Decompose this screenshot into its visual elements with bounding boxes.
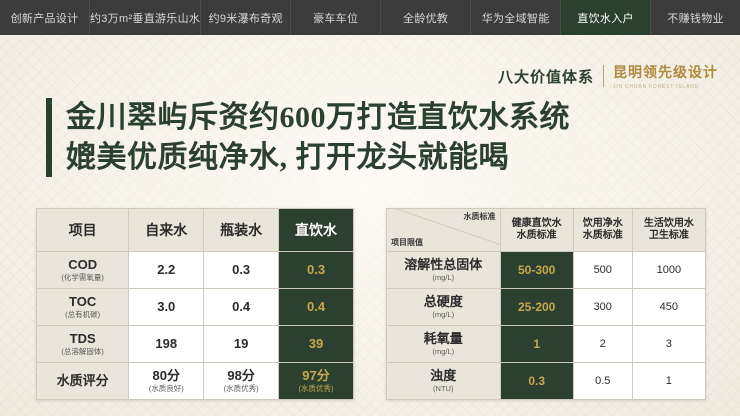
row-label-sub: (化学需氧量) bbox=[37, 273, 128, 282]
nav-item-5[interactable]: 华为全域智能 bbox=[471, 0, 561, 35]
nav-item-2[interactable]: 约9米瀑布奇观 bbox=[201, 0, 291, 35]
cell-hardness-healthy: 25-200 bbox=[500, 289, 573, 326]
headline: 金川翠屿斥资约600万打造直饮水系统 媲美优质纯净水, 打开龙头就能喝 bbox=[46, 98, 570, 177]
headline-line-2: 媲美优质纯净水, 打开龙头就能喝 bbox=[66, 138, 570, 178]
nav-item-0[interactable]: 创新产品设计 bbox=[0, 0, 90, 35]
brand-line: 八大价值体系 昆明领先级设计 JIN CHUAN FOREST ISLAND bbox=[498, 62, 718, 90]
cell-oxygen-domestic: 3 bbox=[632, 326, 705, 363]
cell-tds-healthy: 50-300 bbox=[500, 252, 573, 289]
row-label-sub: (总溶解固体) bbox=[37, 347, 128, 356]
row-label-unit: (NTU) bbox=[387, 384, 500, 393]
row-label-turbidity: 浊度 (NTU) bbox=[387, 363, 501, 400]
cell-cod-bottled: 0.3 bbox=[204, 252, 279, 289]
corner-label-limit: 项目限值 bbox=[391, 238, 423, 248]
brand-design-label: 昆明领先级设计 bbox=[613, 62, 718, 82]
brand-pinyin-label: JIN CHUAN FOREST ISLAND bbox=[613, 84, 699, 90]
cell-oxygen-healthy: 1 bbox=[500, 326, 573, 363]
cell-score-direct: 97分 (水质优秀) bbox=[279, 363, 354, 400]
table-header-row: 水质标准 项目限值 健康直饮水水质标准 饮用净水水质标准 生活饮用水卫生标准 bbox=[387, 209, 706, 252]
nav-item-7[interactable]: 不赚钱物业 bbox=[651, 0, 740, 35]
row-label-unit: (mg/L) bbox=[387, 273, 500, 282]
cell-value-sub: (水质良好) bbox=[129, 384, 203, 393]
cell-oxygen-purified: 2 bbox=[573, 326, 632, 363]
cell-score-tap: 80分 (水质良好) bbox=[129, 363, 204, 400]
nav-item-1[interactable]: 约3万m²垂直游乐山水 bbox=[90, 0, 201, 35]
cell-value: 0.3 bbox=[279, 263, 353, 278]
corner-header-cell: 水质标准 项目限值 bbox=[387, 209, 501, 252]
row-label-unit: (mg/L) bbox=[387, 347, 500, 356]
row-label-tds-total: 溶解性总固体 (mg/L) bbox=[387, 252, 501, 289]
cell-hardness-domestic: 450 bbox=[632, 289, 705, 326]
brand-value-system-label: 八大价值体系 bbox=[498, 66, 594, 87]
cell-value: 98分 bbox=[204, 369, 278, 384]
cell-value: 3.0 bbox=[129, 300, 203, 315]
row-label-main: TOC bbox=[37, 295, 128, 310]
cell-value-sub: (水质优秀) bbox=[279, 384, 353, 393]
table-row: 水质评分 80分 (水质良好) 98分 (水质优秀) 97分 (水质优秀) bbox=[37, 363, 354, 400]
row-label-main: 水质评分 bbox=[37, 374, 128, 389]
headline-text: 金川翠屿斥资约600万打造直饮水系统 媲美优质纯净水, 打开龙头就能喝 bbox=[66, 98, 570, 177]
cell-toc-bottled: 0.4 bbox=[204, 289, 279, 326]
headline-accent-bar bbox=[46, 98, 52, 177]
row-label-sub: (总有机碳) bbox=[37, 310, 128, 319]
cell-cod-direct: 0.3 bbox=[279, 252, 354, 289]
cell-tds-domestic: 1000 bbox=[632, 252, 705, 289]
col-header-tap-water: 自来水 bbox=[129, 209, 204, 252]
cell-value-sub: (水质优秀) bbox=[204, 384, 278, 393]
col-header-direct-drinking-water: 直饮水 bbox=[279, 209, 354, 252]
cell-value: 19 bbox=[204, 337, 278, 352]
water-standards-table: 水质标准 项目限值 健康直饮水水质标准 饮用净水水质标准 生活饮用水卫生标准 溶… bbox=[386, 208, 706, 400]
cell-value: 0.4 bbox=[204, 300, 278, 315]
row-label-tds: TDS (总溶解固体) bbox=[37, 326, 129, 363]
cell-value: 2.2 bbox=[129, 263, 203, 278]
row-label-toc: TOC (总有机碳) bbox=[37, 289, 129, 326]
nav-item-3[interactable]: 豪车车位 bbox=[291, 0, 381, 35]
cell-turbidity-domestic: 1 bbox=[632, 363, 705, 400]
table-row: 总硬度 (mg/L) 25-200 300 450 bbox=[387, 289, 706, 326]
row-label-main: 浊度 bbox=[387, 369, 500, 384]
row-label-main: TDS bbox=[37, 332, 128, 347]
cell-value: 0.3 bbox=[204, 263, 278, 278]
cell-tds-purified: 500 bbox=[573, 252, 632, 289]
brand-divider bbox=[603, 65, 604, 87]
table-row: COD (化学需氧量) 2.2 0.3 0.3 bbox=[37, 252, 354, 289]
table-header-row: 项目 自来水 瓶装水 直饮水 bbox=[37, 209, 354, 252]
cell-tds-bottled: 19 bbox=[204, 326, 279, 363]
water-comparison-table: 项目 自来水 瓶装水 直饮水 COD (化学需氧量) 2.2 0.3 0.3 T… bbox=[36, 208, 354, 400]
tables-container: 项目 自来水 瓶装水 直饮水 COD (化学需氧量) 2.2 0.3 0.3 T… bbox=[36, 208, 706, 400]
row-label-oxygen-consumption: 耗氧量 (mg/L) bbox=[387, 326, 501, 363]
nav-item-label: 约9米瀑布奇观 bbox=[209, 10, 283, 26]
cell-value: 198 bbox=[129, 337, 203, 352]
cell-value: 97分 bbox=[279, 369, 353, 384]
row-label-main: 溶解性总固体 bbox=[387, 258, 500, 273]
nav-item-label: 不赚钱物业 bbox=[667, 10, 724, 26]
nav-item-label: 直饮水入户 bbox=[577, 10, 634, 26]
cell-value: 80分 bbox=[129, 369, 203, 384]
nav-item-4[interactable]: 全龄优教 bbox=[381, 0, 471, 35]
table-row: 浊度 (NTU) 0.3 0.5 1 bbox=[387, 363, 706, 400]
cell-turbidity-healthy: 0.3 bbox=[500, 363, 573, 400]
nav-item-label: 创新产品设计 bbox=[11, 10, 79, 26]
row-label-hardness: 总硬度 (mg/L) bbox=[387, 289, 501, 326]
cell-toc-tap: 3.0 bbox=[129, 289, 204, 326]
row-label-main: 总硬度 bbox=[387, 295, 500, 310]
nav-item-label: 全龄优教 bbox=[403, 10, 448, 26]
brand-right-wrap: 昆明领先级设计 JIN CHUAN FOREST ISLAND bbox=[613, 62, 718, 90]
cell-value: 39 bbox=[279, 337, 353, 352]
cell-tds-tap: 198 bbox=[129, 326, 204, 363]
row-label-cod: COD (化学需氧量) bbox=[37, 252, 129, 289]
row-label-unit: (mg/L) bbox=[387, 310, 500, 319]
cell-turbidity-purified: 0.5 bbox=[573, 363, 632, 400]
nav-item-label: 豪车车位 bbox=[313, 10, 358, 26]
nav-item-6-active[interactable]: 直饮水入户 bbox=[561, 0, 651, 35]
col-header-item: 项目 bbox=[37, 209, 129, 252]
top-navigation: 创新产品设计 约3万m²垂直游乐山水 约9米瀑布奇观 豪车车位 全龄优教 华为全… bbox=[0, 0, 740, 35]
cell-hardness-purified: 300 bbox=[573, 289, 632, 326]
col-header-purified-standard: 饮用净水水质标准 bbox=[573, 209, 632, 252]
col-header-bottled-water: 瓶装水 bbox=[204, 209, 279, 252]
table-row: TDS (总溶解固体) 198 19 39 bbox=[37, 326, 354, 363]
col-header-healthy-direct-standard: 健康直饮水水质标准 bbox=[500, 209, 573, 252]
table-row: 耗氧量 (mg/L) 1 2 3 bbox=[387, 326, 706, 363]
nav-item-label: 约3万m²垂直游乐山水 bbox=[90, 10, 200, 26]
cell-value: 0.4 bbox=[279, 300, 353, 315]
table-row: TOC (总有机碳) 3.0 0.4 0.4 bbox=[37, 289, 354, 326]
cell-tds-direct: 39 bbox=[279, 326, 354, 363]
nav-item-label: 华为全域智能 bbox=[482, 10, 550, 26]
headline-line-1: 金川翠屿斥资约600万打造直饮水系统 bbox=[66, 98, 570, 138]
table-row: 溶解性总固体 (mg/L) 50-300 500 1000 bbox=[387, 252, 706, 289]
row-label-main: COD bbox=[37, 258, 128, 273]
col-header-domestic-standard: 生活饮用水卫生标准 bbox=[632, 209, 705, 252]
row-label-main: 耗氧量 bbox=[387, 332, 500, 347]
cell-toc-direct: 0.4 bbox=[279, 289, 354, 326]
corner-label-standard: 水质标准 bbox=[464, 212, 496, 222]
cell-score-bottled: 98分 (水质优秀) bbox=[204, 363, 279, 400]
row-label-score: 水质评分 bbox=[37, 363, 129, 400]
cell-cod-tap: 2.2 bbox=[129, 252, 204, 289]
